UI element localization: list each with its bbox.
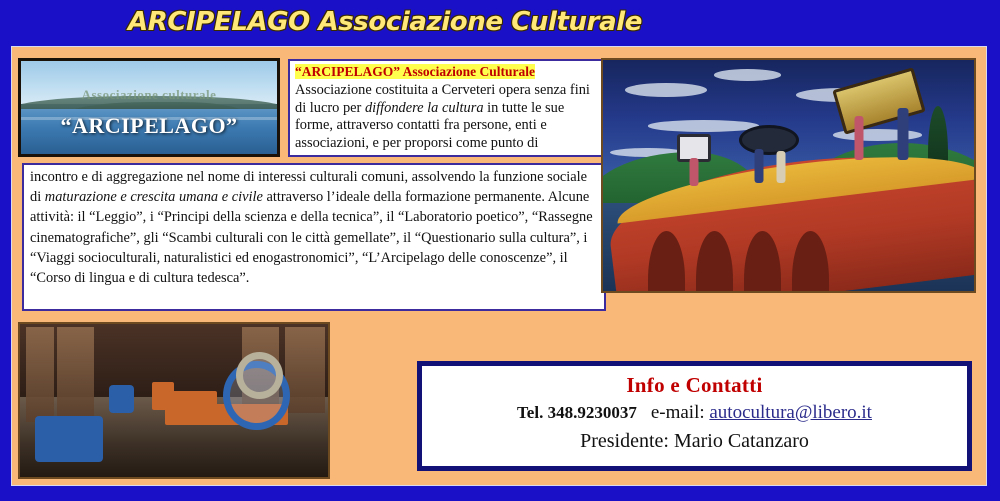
contact-phone: Tel. 348.9230037 — [517, 403, 637, 422]
content-panel: Associazione culturale “ARCIPELAGO” “ARC… — [12, 47, 986, 485]
poster-page: ARCIPELAGO Associazione Culturale Associ… — [0, 0, 1000, 501]
logo-name: “ARCIPELAGO” — [21, 113, 277, 139]
painting-figure-body — [690, 158, 699, 186]
contact-email-link[interactable]: autocultura@libero.it — [709, 402, 872, 423]
bridge-painting-image — [601, 58, 976, 293]
painting-figure-body — [754, 149, 763, 183]
intro-text-italic: diffondere la cultura — [365, 100, 484, 116]
museum-blue-exhibit — [35, 416, 103, 462]
description-text-italic: maturazione e crescita umana e civile — [45, 189, 263, 205]
contact-line-phone-email: Tel. 348.9230037e-mail: autocultura@libe… — [422, 398, 967, 427]
book-icon — [832, 68, 925, 135]
intro-text-box: “ARCIPELAGO” Associazione Culturale Asso… — [288, 59, 606, 157]
arcipelago-logo-image: Associazione culturale “ARCIPELAGO” — [18, 58, 280, 157]
museum-panel — [57, 327, 94, 419]
museum-panel — [285, 327, 325, 413]
satellite-dish-icon — [739, 125, 799, 155]
museum-panel — [26, 327, 54, 422]
museum-blue-exhibit — [109, 385, 134, 413]
painting-figure-book — [833, 78, 925, 160]
title-bar: ARCIPELAGO Associazione Culturale — [0, 0, 1000, 47]
contact-email-label: e-mail: — [651, 402, 705, 423]
contact-president: Presidente: Mario Catanzaro — [422, 427, 967, 455]
page-title: ARCIPELAGO Associazione Culturale — [128, 7, 642, 37]
painting-figure-body — [854, 116, 863, 160]
intro-paragraph: Associazione costituita a Cerveteri oper… — [295, 82, 600, 152]
contact-title: Info e Contatti — [422, 372, 967, 398]
painting-figure-dish — [740, 125, 798, 183]
painting-figure-body — [776, 151, 785, 183]
painting-cloud — [625, 83, 707, 97]
painting-cloud — [714, 69, 781, 81]
description-text-box: incontro e di aggregazione nel nome di i… — [22, 163, 606, 311]
painting-figure-tv — [677, 134, 711, 186]
museum-orange-exhibit — [165, 391, 217, 425]
logo-subtitle: Associazione culturale — [21, 87, 277, 103]
intro-heading: “ARCIPELAGO” Associazione Culturale — [295, 64, 535, 79]
painting-figure-body — [897, 108, 908, 160]
contact-box: Info e Contatti Tel. 348.9230037e-mail: … — [417, 361, 972, 471]
museum-exhibition-image — [18, 322, 330, 479]
description-paragraph: incontro e di aggregazione nel nome di i… — [30, 167, 598, 288]
